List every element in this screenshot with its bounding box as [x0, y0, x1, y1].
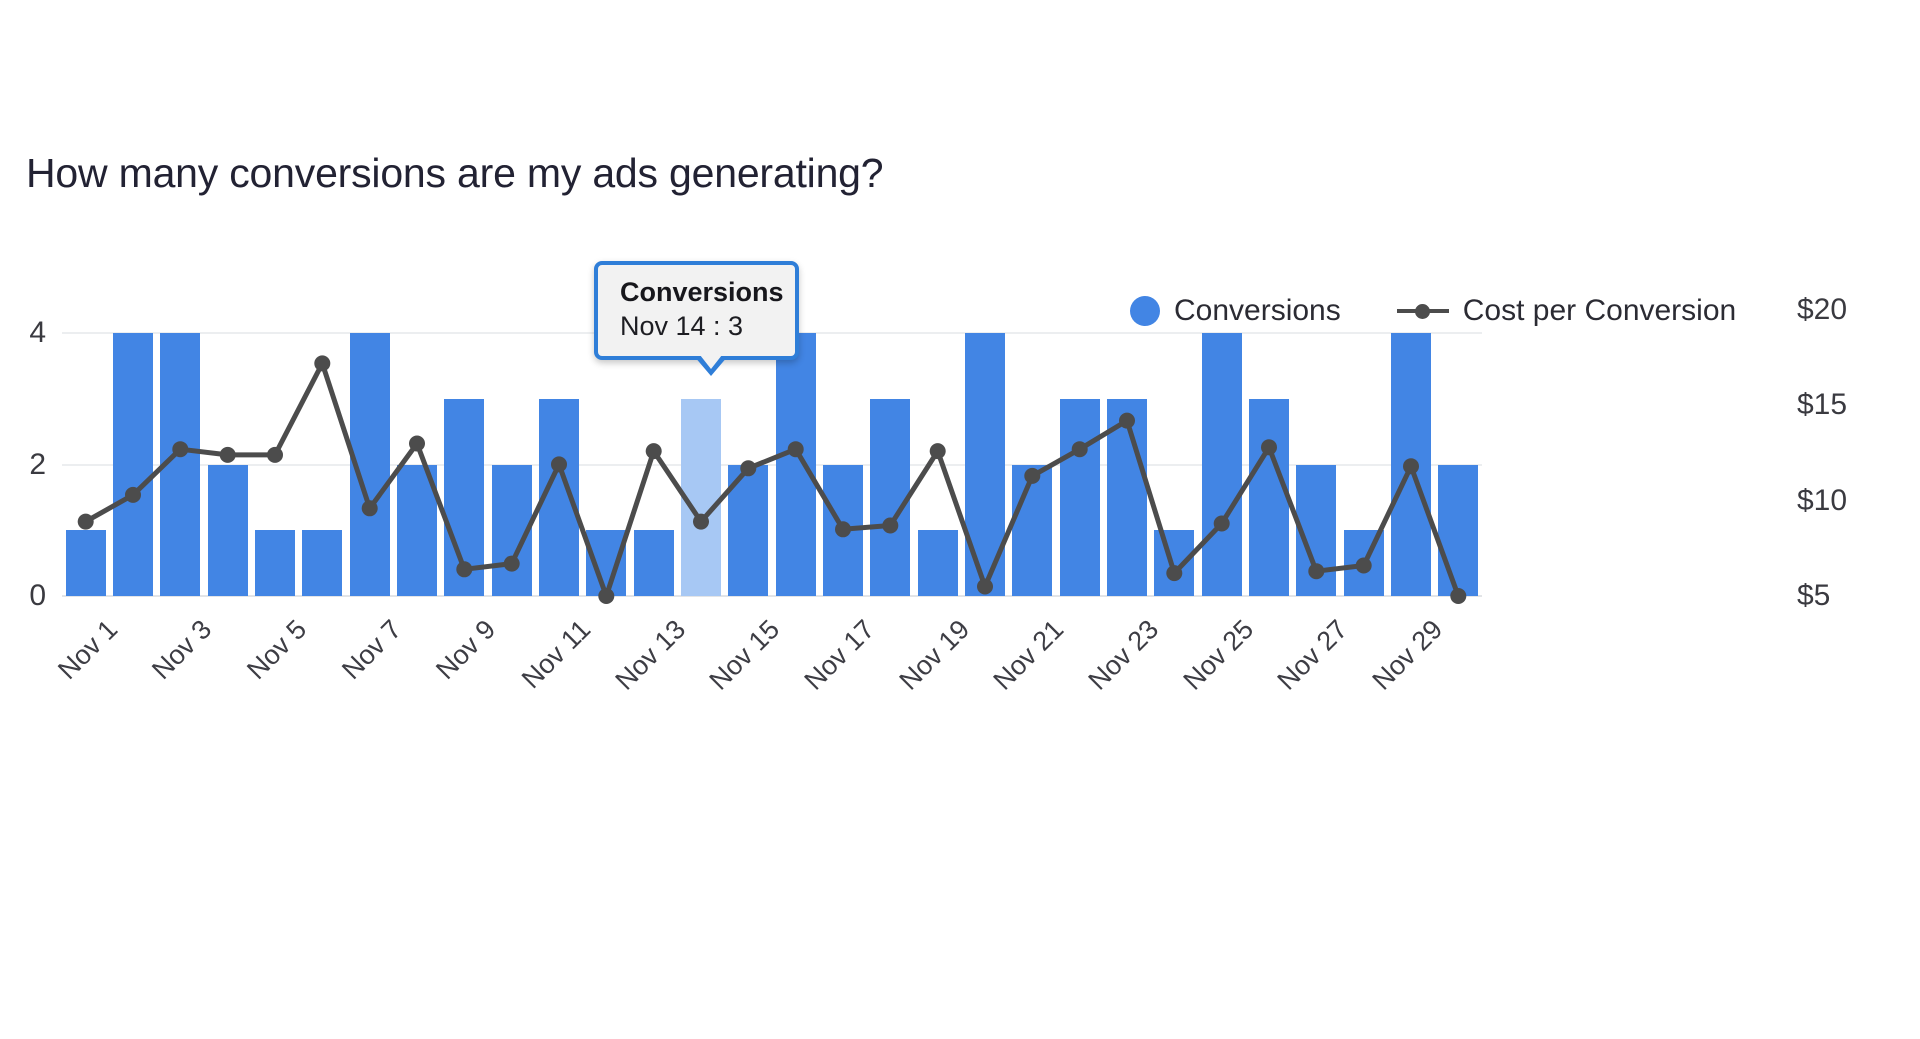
x-axis: Nov 1Nov 3Nov 5Nov 7Nov 9Nov 11Nov 13Nov… [62, 600, 1482, 720]
y-axis-right-label: $20 [1797, 293, 1847, 327]
x-axis-label: Nov 15 [704, 614, 786, 696]
line-point-nov-11[interactable] [551, 456, 567, 472]
line-point-nov-15[interactable] [740, 460, 756, 476]
chart-widget: How many conversions are my ads generati… [0, 0, 1920, 1039]
x-axis-label: Nov 29 [1366, 614, 1448, 696]
x-axis-label: Nov 3 [146, 614, 218, 686]
line-point-nov-6[interactable] [314, 355, 330, 371]
line-point-nov-10[interactable] [504, 556, 520, 572]
x-axis-label: Nov 17 [798, 614, 880, 696]
line-point-nov-23[interactable] [1119, 413, 1135, 429]
y-axis-left: 024 [0, 310, 46, 596]
tooltip-arrow-inner-icon [700, 355, 722, 369]
y-axis-right: $5$10$15$20 [1797, 310, 1917, 596]
line-point-nov-1[interactable] [78, 514, 94, 530]
y-axis-left-label: 0 [29, 579, 46, 613]
line-point-nov-3[interactable] [172, 441, 188, 457]
x-axis-label: Nov 13 [609, 614, 691, 696]
line-point-nov-26[interactable] [1261, 439, 1277, 455]
y-axis-left-label: 4 [29, 316, 46, 350]
line-point-nov-18[interactable] [882, 518, 898, 534]
x-axis-label: Nov 11 [516, 614, 597, 695]
x-axis-label: Nov 27 [1272, 614, 1354, 696]
line-point-nov-13[interactable] [646, 443, 662, 459]
line-point-nov-4[interactable] [220, 447, 236, 463]
line-point-nov-20[interactable] [977, 579, 993, 595]
y-axis-right-label: $5 [1797, 579, 1830, 613]
line-point-nov-7[interactable] [362, 500, 378, 516]
line-point-nov-29[interactable] [1403, 458, 1419, 474]
line-point-nov-24[interactable] [1166, 565, 1182, 581]
line-point-nov-16[interactable] [788, 441, 804, 457]
line-point-nov-8[interactable] [409, 436, 425, 452]
line-point-nov-2[interactable] [125, 487, 141, 503]
line-point-nov-14[interactable] [693, 514, 709, 530]
y-axis-right-label: $10 [1797, 484, 1847, 518]
x-axis-label: Nov 23 [1082, 614, 1164, 696]
line-point-nov-21[interactable] [1024, 468, 1040, 484]
y-axis-right-label: $15 [1797, 388, 1847, 422]
x-axis-label: Nov 9 [430, 614, 502, 686]
x-axis-label: Nov 1 [52, 614, 124, 686]
x-axis-label: Nov 7 [336, 614, 408, 686]
x-axis-label: Nov 21 [988, 614, 1070, 696]
line-point-nov-25[interactable] [1214, 516, 1230, 532]
legend-label-cost-per-conversion: Cost per Conversion [1463, 296, 1736, 326]
line-point-nov-5[interactable] [267, 447, 283, 463]
tooltip-title: Conversions [620, 277, 779, 308]
x-axis-label: Nov 25 [1177, 614, 1259, 696]
cost-per-conversion-line [86, 363, 1459, 596]
x-axis-label: Nov 5 [241, 614, 313, 686]
x-axis-label: Nov 19 [893, 614, 975, 696]
line-point-nov-28[interactable] [1356, 558, 1372, 574]
line-point-nov-9[interactable] [456, 561, 472, 577]
chart-tooltip: Conversions Nov 14 : 3 [594, 261, 799, 360]
y-axis-left-label: 2 [29, 448, 46, 482]
page-title: How many conversions are my ads generati… [26, 150, 883, 197]
line-point-nov-19[interactable] [930, 443, 946, 459]
line-point-nov-27[interactable] [1308, 563, 1324, 579]
line-point-nov-17[interactable] [835, 521, 851, 537]
line-point-nov-22[interactable] [1072, 441, 1088, 457]
tooltip-body: Nov 14 : 3 [620, 310, 779, 342]
